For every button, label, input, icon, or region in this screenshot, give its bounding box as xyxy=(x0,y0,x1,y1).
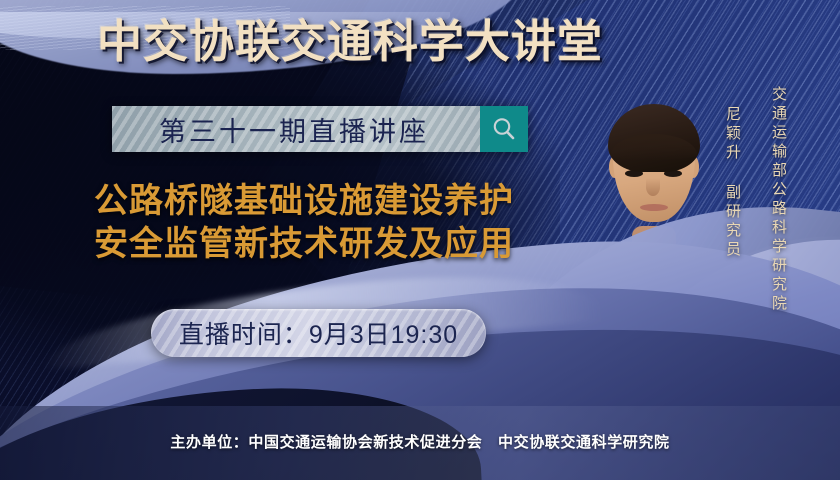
episode-banner[interactable]: 第三十一期直播讲座 xyxy=(112,106,528,152)
episode-label: 第三十一期直播讲座 xyxy=(112,106,480,152)
portrait-nose xyxy=(646,178,660,196)
speaker-name-and-title: 尼颖升 副研究员 xyxy=(722,106,743,260)
broadcast-time-badge: 直播时间：9月3日19:30 xyxy=(151,309,486,357)
portrait-mouth xyxy=(640,204,668,211)
speaker-organization: 交通运输部公路科学研究院 xyxy=(768,86,789,314)
sponsor-text: 主办单位：中国交通运输协会新技术促进分会 中交协联交通科学研究院 xyxy=(0,431,840,452)
search-icon xyxy=(491,116,517,142)
lecture-topic-line-2: 安全监管新技术研发及应用 xyxy=(24,223,584,266)
lecture-topic: 公路桥隧基础设施建设养护 安全监管新技术研发及应用 xyxy=(24,180,584,266)
page-title: 中交协联交通科学大讲堂 xyxy=(0,18,700,66)
portrait-neck xyxy=(632,226,676,274)
broadcast-time-text: 直播时间：9月3日19:30 xyxy=(179,315,458,351)
search-button[interactable] xyxy=(480,106,528,152)
lecture-topic-line-1: 公路桥隧基础设施建设养护 xyxy=(94,181,514,221)
livestream-poster: 中交协联交通科学大讲堂 第三十一期直播讲座 公路桥隧基础设施建设养护 安全监管新… xyxy=(0,0,840,480)
